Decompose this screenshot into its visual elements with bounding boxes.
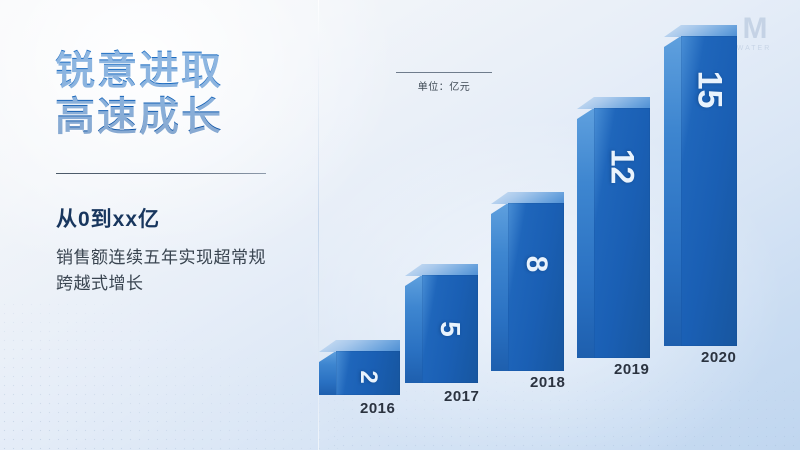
bar-2017-label: 2017 <box>444 388 479 405</box>
bar-2018-label: 2018 <box>530 374 565 391</box>
unit-underline <box>396 72 492 73</box>
bar-2019-value: 12 <box>604 139 641 195</box>
presentation-slide: 锐意进取 高速成长 从0到xx亿 销售额连续五年实现超常规 跨越式增长 单位：亿… <box>0 0 800 450</box>
description-text: 销售额连续五年实现超常规 跨越式增长 <box>56 245 296 296</box>
bar-2019-label: 2019 <box>614 361 649 378</box>
unit-label: 单位：亿元 <box>396 78 492 93</box>
kicker-text: 从0到xx亿 <box>56 203 160 233</box>
unit-annotation: 单位：亿元 <box>396 72 492 93</box>
description-line-2: 跨越式增长 <box>56 271 296 297</box>
bar-2017-value: 5 <box>434 301 466 357</box>
page-title: 锐意进取 高速成长 <box>55 48 305 141</box>
bar-2018: 8 <box>508 203 564 371</box>
title-divider <box>56 173 266 174</box>
bar-2019-side <box>577 108 594 358</box>
bar-2019: 12 <box>594 108 650 358</box>
bar-2016-label: 2016 <box>360 400 395 417</box>
bar-2020-value: 15 <box>690 62 729 118</box>
headline-line-2: 高速成长 <box>55 94 305 140</box>
bar-2017: 5 <box>422 275 478 383</box>
bar-2016-side <box>319 351 336 395</box>
bar-chart: 单位：亿元 2 2016 5 2017 8 2018 <box>318 0 800 450</box>
bar-2018-side <box>491 203 508 371</box>
bar-2018-value: 8 <box>519 236 553 292</box>
description-line-1: 销售额连续五年实现超常规 <box>56 248 266 267</box>
bar-2020-label: 2020 <box>701 349 736 366</box>
bar-2020: 15 <box>681 36 737 346</box>
bar-2016: 2 <box>336 351 400 395</box>
text-panel: 锐意进取 高速成长 从0到xx亿 销售额连续五年实现超常规 跨越式增长 <box>0 0 318 450</box>
headline-line-1: 锐意进取 <box>55 49 223 93</box>
bar-2020-side <box>664 36 681 346</box>
bar-2017-side <box>405 275 422 383</box>
